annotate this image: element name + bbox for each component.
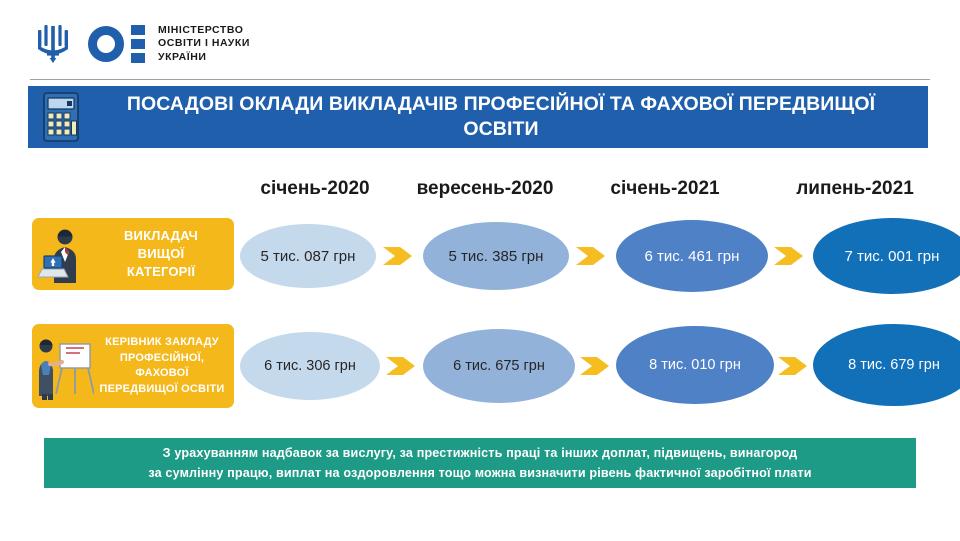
value-ellipse-1-2: 5 тис. 385 грн	[423, 222, 569, 290]
category-label-2: КЕРІВНИК ЗАКЛАДУ ПРОФЕСІЙНОЇ, ФАХОВОЇ ПЕ…	[94, 335, 234, 397]
category-label-2-line-1: КЕРІВНИК ЗАКЛАДУ	[94, 335, 230, 351]
value-text-1-3: 6 тис. 461 грн	[645, 248, 740, 265]
value-node-1-3: 6 тис. 461 грн	[616, 220, 768, 292]
value-ellipse-1-4: 7 тис. 001 грн	[813, 218, 960, 294]
ministry-line-1: МІНІСТЕРСТВО	[158, 24, 250, 38]
column-header-4: липень-2021	[765, 178, 945, 200]
category-label-1-line-3: КАТЕГОРІЇ	[96, 263, 226, 281]
chevron-right-arrow-icon-2-1	[386, 351, 422, 381]
ministry-name: МІНІСТЕРСТВО ОСВІТИ І НАУКИ УКРАЇНИ	[158, 24, 250, 65]
category-label-box-2: КЕРІВНИК ЗАКЛАДУ ПРОФЕСІЙНОЇ, ФАХОВОЇ ПЕ…	[32, 324, 234, 408]
presenter-with-board-icon	[32, 330, 94, 402]
footer-note-banner: З урахуванням надбавок за вислугу, за пр…	[44, 438, 916, 488]
chevron-right-arrow-icon-2-2	[580, 351, 616, 381]
chevron-right-arrow-icon-1-2	[576, 241, 612, 271]
salary-row-teacher: ВИКЛАДАЧ ВИЩОЇ КАТЕГОРІЇ 5 тис. 087 грн …	[0, 212, 960, 300]
value-node-2-2: 6 тис. 675 грн	[423, 329, 575, 403]
ministry-squares-icon	[131, 25, 145, 63]
ministry-line-2: ОСВІТИ І НАУКИ	[158, 37, 250, 51]
timeline-column-headers: січень-2020 вересень-2020 січень-2021 ли…	[240, 178, 940, 204]
ministry-logo: МІНІСТЕРСТВО ОСВІТИ І НАУКИ УКРАЇНИ	[88, 24, 250, 64]
ministry-ring-logo-icon	[88, 26, 124, 62]
footer-note-text: З урахуванням надбавок за вислугу, за пр…	[134, 443, 825, 483]
page-title: ПОСАДОВІ ОКЛАДИ ВИКЛАДАЧІВ ПРОФЕСІЙНОЇ Т…	[28, 92, 928, 142]
column-header-3: січень-2021	[585, 178, 745, 200]
footer-note-line-2: за сумлінну працю, виплат на оздоровленн…	[148, 466, 811, 480]
timeline-track-1: 5 тис. 087 грн 5 тис. 385 грн 6 тис. 461…	[240, 212, 940, 300]
category-label-2-line-2: ПРОФЕСІЙНОЇ,	[94, 351, 230, 367]
value-text-2-2: 6 тис. 675 грн	[453, 358, 545, 374]
timeline-track-2: 6 тис. 306 грн 6 тис. 675 грн 8 тис. 010…	[240, 318, 940, 416]
category-label-1-line-1: ВИКЛАДАЧ	[96, 227, 226, 245]
masthead: МІНІСТЕРСТВО ОСВІТИ І НАУКИ УКРАЇНИ	[0, 0, 960, 82]
salary-row-director: КЕРІВНИК ЗАКЛАДУ ПРОФЕСІЙНОЇ, ФАХОВОЇ ПЕ…	[0, 318, 960, 416]
value-text-1-4: 7 тис. 001 грн	[845, 248, 940, 265]
footer-note-line-1: З урахуванням надбавок за вислугу, за пр…	[163, 446, 798, 460]
teacher-with-laptop-icon	[32, 223, 96, 285]
value-ellipse-1-3: 6 тис. 461 грн	[616, 220, 768, 292]
calculator-icon	[34, 90, 88, 144]
ministry-line-3: УКРАЇНИ	[158, 51, 250, 65]
value-node-1-2: 5 тис. 385 грн	[423, 222, 569, 290]
category-label-2-line-4: ПЕРЕДВИЩОЇ ОСВІТИ	[94, 382, 230, 398]
value-text-1-1: 5 тис. 087 грн	[261, 248, 356, 265]
value-ellipse-2-3: 8 тис. 010 грн	[616, 326, 774, 404]
category-label-1: ВИКЛАДАЧ ВИЩОЇ КАТЕГОРІЇ	[96, 227, 234, 281]
value-ellipse-1-1: 5 тис. 087 грн	[240, 224, 376, 288]
page-title-banner: ПОСАДОВІ ОКЛАДИ ВИКЛАДАЧІВ ПРОФЕСІЙНОЇ Т…	[28, 86, 928, 148]
value-text-2-1: 6 тис. 306 грн	[264, 358, 356, 374]
value-node-2-1: 6 тис. 306 грн	[240, 332, 380, 400]
ukraine-trident-icon	[36, 22, 70, 64]
value-ellipse-2-4: 8 тис. 679 грн	[813, 324, 960, 406]
value-node-2-4: 8 тис. 679 грн	[813, 324, 960, 406]
chevron-right-arrow-icon-1-1	[383, 241, 419, 271]
category-label-1-line-2: ВИЩОЇ	[96, 245, 226, 263]
category-label-2-line-3: ФАХОВОЇ	[94, 366, 230, 382]
value-ellipse-2-2: 6 тис. 675 грн	[423, 329, 575, 403]
chevron-right-arrow-icon-1-3	[774, 241, 810, 271]
value-text-1-2: 5 тис. 385 грн	[449, 248, 544, 265]
value-node-1-1: 5 тис. 087 грн	[240, 224, 376, 288]
column-header-2: вересень-2020	[395, 178, 575, 200]
category-label-box-1: ВИКЛАДАЧ ВИЩОЇ КАТЕГОРІЇ	[32, 218, 234, 290]
value-text-2-4: 8 тис. 679 грн	[848, 357, 940, 373]
value-text-2-3: 8 тис. 010 грн	[649, 357, 741, 373]
value-ellipse-2-1: 6 тис. 306 грн	[240, 332, 380, 400]
page-title-line-1: ПОСАДОВІ ОКЛАДИ ВИКЛАДАЧІВ ПРОФЕСІЙНОЇ Т…	[127, 93, 733, 115]
column-header-1: січень-2020	[235, 178, 395, 200]
header-divider	[30, 79, 930, 80]
chevron-right-arrow-icon-2-3	[778, 351, 814, 381]
value-node-1-4: 7 тис. 001 грн	[813, 218, 960, 294]
value-node-2-3: 8 тис. 010 грн	[616, 326, 774, 404]
